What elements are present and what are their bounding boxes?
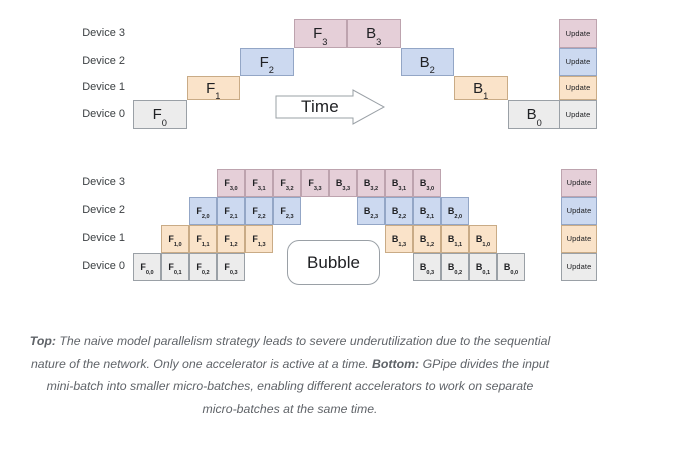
bot-block-b1-2: B1,2	[413, 225, 441, 253]
cell-label: B0,1	[476, 263, 490, 272]
bot-block-b1-1: B1,1	[441, 225, 469, 253]
device-label-b0: Device 3	[20, 177, 125, 188]
device-label-b3: Device 0	[20, 261, 125, 272]
bot-block-f1-1: F1,1	[189, 225, 217, 253]
cell-label: F1,0	[168, 235, 181, 244]
gpipe-pipeline-chart: Device 3F3,0F3,1F3,2F3,3B3,3B3,2B3,1B3,0…	[0, 0, 679, 300]
bot-block-b2-1: B2,1	[413, 197, 441, 225]
bot-block-b3-3: B3,3	[329, 169, 357, 197]
bot-block-f2-0: F2,0	[189, 197, 217, 225]
caption-lead-bottom: Bottom:	[372, 357, 419, 371]
bot-update-2: Update	[561, 225, 597, 253]
bot-block-f1-3: F1,3	[245, 225, 273, 253]
cell-label: F2,1	[224, 207, 237, 216]
cell-label: F3,2	[280, 179, 293, 188]
cell-label: F3,3	[308, 179, 321, 188]
bot-block-b0-0: B0,0	[497, 253, 525, 281]
cell-label: F0,2	[196, 263, 209, 272]
bot-block-f3-1: F3,1	[245, 169, 273, 197]
cell-label: F3,1	[252, 179, 265, 188]
cell-label: B2,1	[420, 207, 434, 216]
cell-label: B2,2	[392, 207, 406, 216]
cell-label: Update	[567, 263, 592, 271]
cell-label: Update	[567, 235, 592, 243]
cell-label: B3,2	[364, 179, 378, 188]
bot-block-b1-3: B1,3	[385, 225, 413, 253]
bot-block-b3-1: B3,1	[385, 169, 413, 197]
cell-label: B1,2	[420, 235, 434, 244]
cell-label: F0,3	[224, 263, 237, 272]
cell-label: F0,0	[140, 263, 153, 272]
bot-block-f3-2: F3,2	[273, 169, 301, 197]
cell-label: B3,0	[420, 179, 434, 188]
gpipe-figure: Device 3F3B3UpdateDevice 2F2B2UpdateDevi…	[0, 0, 679, 451]
bubble-label: Bubble	[307, 253, 360, 273]
device-label-b1: Device 2	[20, 205, 125, 216]
bot-block-b0-3: B0,3	[413, 253, 441, 281]
bot-update-3: Update	[561, 253, 597, 281]
bubble-box: Bubble	[287, 240, 380, 285]
cell-label: B1,3	[392, 235, 406, 244]
cell-label: F0,1	[168, 263, 181, 272]
cell-label: B0,2	[448, 263, 462, 272]
bot-block-b2-3: B2,3	[357, 197, 385, 225]
bot-block-b2-2: B2,2	[385, 197, 413, 225]
figure-caption: Top: The naive model parallelism strateg…	[28, 330, 552, 421]
bot-block-f1-2: F1,2	[217, 225, 245, 253]
cell-label: B2,0	[448, 207, 462, 216]
bot-block-f0-0: F0,0	[133, 253, 161, 281]
cell-label: B2,3	[364, 207, 378, 216]
bot-block-b3-0: B3,0	[413, 169, 441, 197]
cell-label: B1,1	[448, 235, 462, 244]
cell-label: B0,3	[420, 263, 434, 272]
cell-label: B0,0	[504, 263, 518, 272]
cell-label: B1,0	[476, 235, 490, 244]
cell-label: Update	[567, 207, 592, 215]
bot-block-f3-3: F3,3	[301, 169, 329, 197]
bot-block-b3-2: B3,2	[357, 169, 385, 197]
bot-block-f0-2: F0,2	[189, 253, 217, 281]
bot-block-f2-3: F2,3	[273, 197, 301, 225]
bot-block-f0-1: F0,1	[161, 253, 189, 281]
device-label-b2: Device 1	[20, 233, 125, 244]
bot-update-0: Update	[561, 169, 597, 197]
cell-label: F1,2	[224, 235, 237, 244]
caption-lead-top: Top:	[30, 334, 56, 348]
bot-block-f2-2: F2,2	[245, 197, 273, 225]
cell-label: F3,0	[224, 179, 237, 188]
bot-block-f3-0: F3,0	[217, 169, 245, 197]
cell-label: B3,1	[392, 179, 406, 188]
bot-block-f0-3: F0,3	[217, 253, 245, 281]
bot-block-b1-0: B1,0	[469, 225, 497, 253]
bot-block-b0-2: B0,2	[441, 253, 469, 281]
bot-block-f1-0: F1,0	[161, 225, 189, 253]
cell-label: B3,3	[336, 179, 350, 188]
bot-block-b0-1: B0,1	[469, 253, 497, 281]
cell-label: F2,2	[252, 207, 265, 216]
cell-label: F2,3	[280, 207, 293, 216]
cell-label: Update	[567, 179, 592, 187]
bot-update-1: Update	[561, 197, 597, 225]
cell-label: F1,3	[252, 235, 265, 244]
bot-block-b2-0: B2,0	[441, 197, 469, 225]
cell-label: F1,1	[196, 235, 209, 244]
bot-block-f2-1: F2,1	[217, 197, 245, 225]
cell-label: F2,0	[196, 207, 209, 216]
